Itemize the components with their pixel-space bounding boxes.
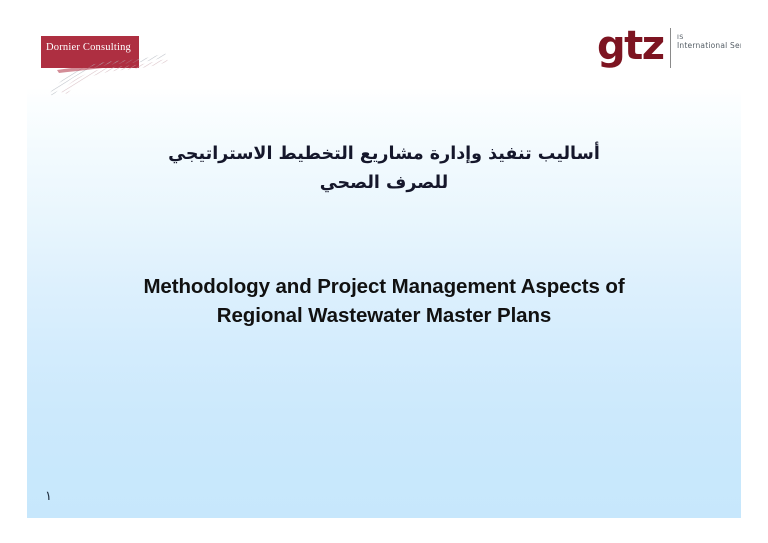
presentation-slide: Dornier Consulting gtz IS Inte: [27, 0, 741, 518]
gtz-logo-is-label: IS: [677, 33, 684, 41]
gtz-logo-wordmark: gtz: [597, 26, 664, 66]
slide-title-english-line-1: Methodology and Project Management Aspec…: [27, 272, 741, 301]
gtz-logo-divider: [670, 28, 671, 68]
slide-title-arabic-line-2: للصرف الصحي: [27, 169, 741, 198]
slide-title-arabic-line-1: أساليب تنفيذ وإدارة مشاريع التخطيط الاست…: [27, 140, 741, 169]
gtz-logo: gtz IS International Services: [597, 26, 732, 70]
dornier-logo-wordmark: Dornier Consulting: [46, 42, 138, 54]
gtz-logo-subtitle: International Services: [677, 41, 741, 50]
dornier-consulting-logo: Dornier Consulting: [41, 36, 171, 98]
slide-title-english-line-2: Regional Wastewater Master Plans: [27, 301, 741, 330]
document-page: Dornier Consulting gtz IS Inte: [0, 0, 768, 543]
slide-title-english: Methodology and Project Management Aspec…: [27, 272, 741, 330]
slide-title-arabic: أساليب تنفيذ وإدارة مشاريع التخطيط الاست…: [27, 140, 741, 198]
slide-page-number: ١: [45, 489, 52, 505]
